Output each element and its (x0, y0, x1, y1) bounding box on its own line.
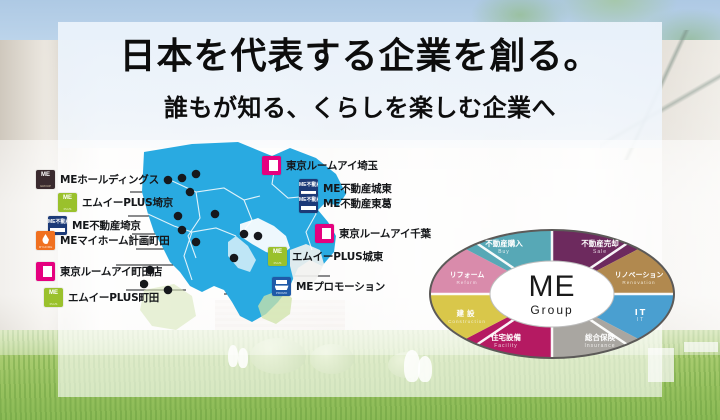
me-plus-icon: MEPLUS (268, 247, 287, 266)
map-label-tokyo-roomeye-machida[interactable]: 東京ルームアイ町田店 (36, 262, 162, 281)
hero-text-block: 日本を代表する企業を創る。 誰もが知る、くらしを楽しむ企業へ (0, 36, 720, 123)
map-label-tokyo-roomeye-chiba[interactable]: 東京ルームアイ千葉 (315, 224, 431, 243)
wheel-label-renovation: リノベーション Renovation (606, 270, 672, 285)
wheel-label-facility: 住宅設備 Facility (470, 332, 542, 349)
tokyo-roomeye-icon (315, 224, 334, 243)
wheel-center-logo: ME Group (490, 272, 614, 317)
page-title: 日本を代表する企業を創る。 (0, 36, 720, 78)
map-label-me-fudosan-tokatsu[interactable]: ME不動産 ME不動産東葛 (299, 194, 392, 213)
map-label-me-holdings[interactable]: MEGROUP MEホールディングス (36, 170, 159, 189)
tokyo-roomeye-icon (36, 262, 55, 281)
business-wheel-diagram: 不動産購入 Buy 不動産売却 Sale リノベーション Renovation … (428, 228, 676, 360)
map-label-text: MEプロモーション (296, 279, 385, 294)
map-label-me-plus-saikyo[interactable]: MEPLUS エムイーPLUS埼京 (58, 193, 173, 212)
map-label-text: MEホールディングス (60, 172, 159, 187)
map-label-tokyo-roomeye-saitama[interactable]: 東京ルームアイ埼玉 (262, 156, 378, 175)
me-logo-subtext: Group (490, 303, 614, 317)
page-subtitle: 誰もが知る、くらしを楽しむ企業へ (0, 88, 720, 123)
wheel-label-buy: 不動産購入 Buy (468, 238, 540, 255)
map-label-me-plus-machida[interactable]: MEPLUS エムイーPLUS町田 (44, 288, 159, 307)
map-label-text: 東京ルームアイ町田店 (60, 264, 162, 279)
map-label-text: MEマイホーム計画町田 (60, 233, 170, 248)
wheel-label-it: IT IT (612, 308, 670, 323)
map-label-text: エムイーPLUS町田 (68, 290, 159, 305)
map-label-text: エムイーPLUS埼京 (82, 195, 173, 210)
map-label-text: 東京ルームアイ埼玉 (286, 158, 378, 173)
map-label-me-myhome-machida[interactable]: MYHOME MEマイホーム計画町田 (36, 231, 170, 250)
map-label-me-promotion[interactable]: PROMO MEプロモーション (272, 277, 385, 296)
wheel-label-sale: 不動産売却 Sale (564, 238, 636, 255)
map-label-text: 東京ルームアイ千葉 (339, 226, 431, 241)
me-plus-icon: MEPLUS (58, 193, 77, 212)
map-label-text: エムイーPLUS城東 (292, 249, 383, 264)
wheel-label-insurance: 総合保険 Insurance (564, 332, 636, 349)
map-label-me-plus-joto[interactable]: MEPLUS エムイーPLUS城東 (268, 247, 383, 266)
screenshot-root: 日本を代表する企業を創る。 誰もが知る、くらしを楽しむ企業へ (0, 0, 720, 420)
me-plus-icon: MEPLUS (44, 288, 63, 307)
me-promotion-icon: PROMO (272, 277, 291, 296)
me-holdings-icon: MEGROUP (36, 170, 55, 189)
me-fudosan-icon: ME不動産 (299, 194, 318, 213)
me-myhome-icon: MYHOME (36, 231, 55, 250)
me-logo-text: ME (490, 272, 614, 302)
map-label-text: ME不動産東葛 (323, 196, 392, 211)
tokyo-roomeye-icon (262, 156, 281, 175)
